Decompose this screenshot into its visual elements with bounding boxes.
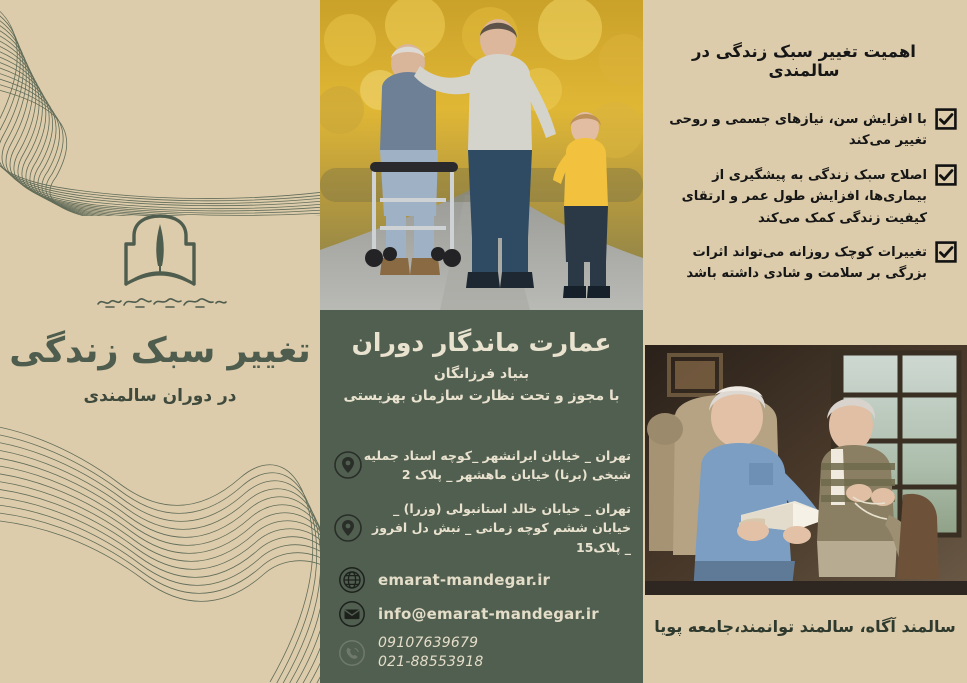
left-column: تغییر سبک زندگی در دوران سالمندی: [0, 0, 320, 683]
decorative-waves-bottom: [0, 420, 350, 683]
checkbox-checked-icon: [935, 241, 957, 263]
email-text: info@emarat-mandegar.ir: [378, 605, 599, 623]
center-green-panel: عمارت ماندگار دوران بنیاد فرزانگان با مج…: [320, 0, 643, 683]
location-pin-icon: [333, 450, 363, 480]
checkbox-checked-icon: [935, 108, 957, 130]
contact-row-phone[interactable]: 09107639679 021-88553918: [320, 634, 625, 672]
organization-foundation: بنیاد فرزانگان: [320, 366, 643, 382]
right-column: اهمیت تغییر سبک زندگی در سالمندی با افزا…: [643, 0, 967, 683]
list-item: تغییرات کوچک روزانه می‌تواند اثرات بزرگی…: [651, 241, 957, 285]
page-subtitle: در دوران سالمندی: [0, 386, 320, 406]
contact-row-website[interactable]: emarat-mandegar.ir: [320, 566, 625, 594]
address-list: تهران _ خیابان ایرانشهر _کوچه استاد جملی…: [327, 446, 635, 571]
address-text: تهران _ خیابان خالد استانبولی (وزرا) _ خ…: [363, 499, 635, 557]
organization-name: عمارت ماندگار دوران: [320, 328, 643, 357]
contact-row-email[interactable]: info@emarat-mandegar.ir: [320, 600, 625, 628]
website-text: emarat-mandegar.ir: [378, 571, 550, 589]
envelope-icon: [338, 600, 366, 628]
benefits-list: با افزایش سن، نیازهای جسمی و روحی تغییر …: [651, 108, 957, 297]
globe-icon: [338, 566, 366, 594]
brand-logo: [0, 214, 320, 312]
list-item: اصلاح سبک زندگی به پیشگیری از بیماری‌ها،…: [651, 164, 957, 229]
list-item-text: اصلاح سبک زندگی به پیشگیری از بیماری‌ها،…: [651, 164, 927, 229]
emarat-mandegar-arch-cypress-logo: [112, 214, 208, 288]
list-item-text: تغییرات کوچک روزانه می‌تواند اثرات بزرگی…: [651, 241, 927, 285]
phone-icon: [338, 639, 366, 667]
phone-landline: 021-88553918: [378, 654, 483, 670]
right-heading: اهمیت تغییر سبک زندگی در سالمندی: [655, 42, 953, 80]
decorative-waves-top: [0, 0, 320, 216]
phone-mobile: 09107639679: [378, 635, 478, 651]
list-item: با افزایش سن، نیازهای جسمی و روحی تغییر …: [651, 108, 957, 152]
address-row: تهران _ خیابان ایرانشهر _کوچه استاد جملی…: [327, 446, 635, 485]
address-text: تهران _ خیابان ایرانشهر _کوچه استاد جملی…: [363, 446, 635, 485]
phone-numbers: 09107639679 021-88553918: [378, 634, 483, 672]
tagline: سالمند آگاه، سالمند توانمند،جامعه پویا: [653, 617, 957, 636]
contact-list: emarat-mandegar.ir info@emarat-mandegar.…: [320, 566, 643, 678]
logo-wordmark: [90, 290, 230, 312]
list-item-text: با افزایش سن، نیازهای جسمی و روحی تغییر …: [651, 108, 927, 152]
organization-license: با مجوز و تحت نظارت سازمان بهزیستی: [320, 388, 643, 404]
page-title: تغییر سبک زندگی: [0, 330, 320, 374]
elderly-couple-reading-knitting-photo: [645, 345, 967, 595]
three-generations-walking-autumn-photo: [320, 0, 643, 310]
brochure-page: تغییر سبک زندگی در دوران سالمندی: [0, 0, 967, 683]
address-row: تهران _ خیابان خالد استانبولی (وزرا) _ خ…: [327, 499, 635, 557]
checkbox-checked-icon: [935, 164, 957, 186]
location-pin-icon: [333, 513, 363, 543]
